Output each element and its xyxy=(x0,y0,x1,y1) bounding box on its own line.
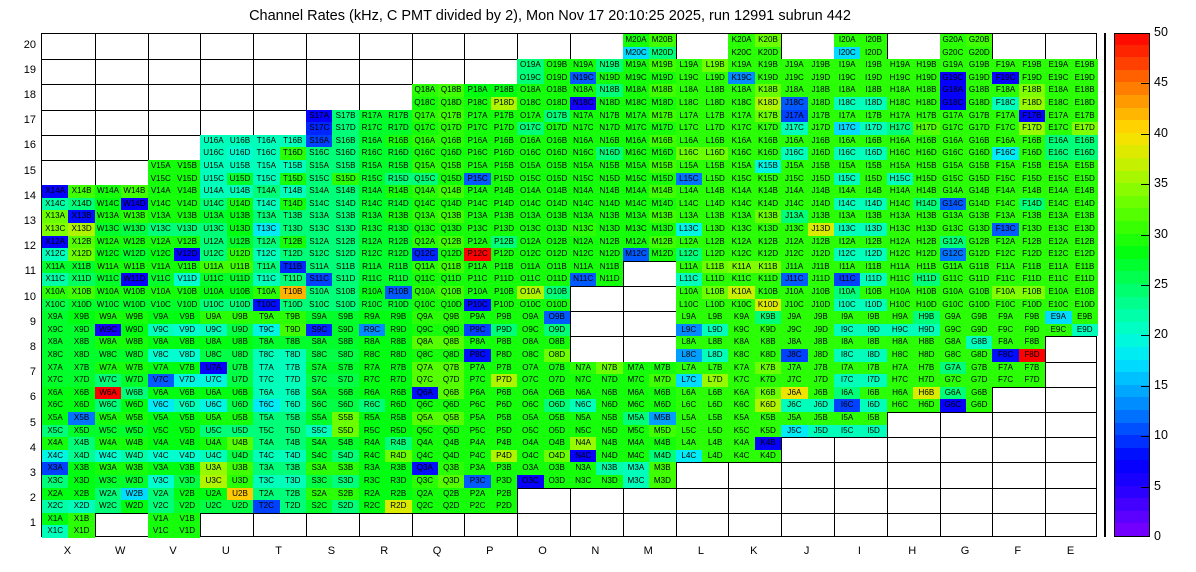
channel-h11a[interactable]: H11A xyxy=(887,261,913,274)
channel-k19c[interactable]: K19C xyxy=(728,72,754,85)
channel-t9a[interactable]: T9A xyxy=(253,311,279,324)
channel-e14a[interactable]: E14A xyxy=(1045,185,1071,198)
channel-o16b[interactable]: O16B xyxy=(544,135,570,148)
channel-q18a[interactable]: Q18A xyxy=(412,84,438,97)
channel-p5b[interactable]: P5B xyxy=(491,412,517,425)
heatmap-cell[interactable]: P18AP18BP18CP18D xyxy=(464,84,517,109)
channel-g8a[interactable]: G8A xyxy=(940,336,966,349)
channel-t13d[interactable]: T13D xyxy=(280,223,306,236)
channel-u6a[interactable]: U6A xyxy=(200,387,226,400)
channel-f7d[interactable]: F7D xyxy=(1019,374,1045,387)
heatmap-cell[interactable]: I19AI19BI19CI19D xyxy=(834,59,887,84)
channel-f15d[interactable]: F15D xyxy=(1019,173,1045,186)
channel-w9a[interactable]: W9A xyxy=(95,311,121,324)
channel-s15d[interactable]: S15D xyxy=(332,173,358,186)
channel-g17a[interactable]: G17A xyxy=(940,110,966,123)
channel-s13c[interactable]: S13C xyxy=(306,223,332,236)
channel-g16c[interactable]: G16C xyxy=(940,147,966,160)
channel-x6d[interactable]: X6D xyxy=(68,399,94,412)
channel-f7c[interactable]: F7C xyxy=(992,374,1018,387)
channel-r2b[interactable]: R2B xyxy=(385,488,411,501)
channel-j15a[interactable]: J15A xyxy=(781,160,807,173)
heatmap-cell[interactable]: L10AL10BL10CL10D xyxy=(676,286,729,311)
channel-n4c[interactable]: N4C xyxy=(570,450,596,463)
channel-i19d[interactable]: I19D xyxy=(860,72,886,85)
channel-w10a[interactable]: W10A xyxy=(95,286,121,299)
channel-n14a[interactable]: N14A xyxy=(570,185,596,198)
channel-e16d[interactable]: E16D xyxy=(1072,147,1098,160)
channel-m5b[interactable]: M5B xyxy=(649,412,675,425)
channel-o16a[interactable]: O16A xyxy=(517,135,543,148)
channel-p10d[interactable]: P10D xyxy=(491,299,517,312)
channel-g10c[interactable]: G10C xyxy=(940,299,966,312)
channel-l13a[interactable]: L13A xyxy=(676,210,702,223)
channel-h13c[interactable]: H13C xyxy=(887,223,913,236)
channel-o14c[interactable]: O14C xyxy=(517,198,543,211)
channel-l18d[interactable]: L18D xyxy=(702,97,728,110)
channel-u14a[interactable]: U14A xyxy=(200,185,226,198)
channel-x14d[interactable]: X14D xyxy=(68,198,94,211)
channel-r2c[interactable]: R2C xyxy=(359,500,385,513)
channel-x12b[interactable]: X12B xyxy=(68,236,94,249)
channel-l8b[interactable]: L8B xyxy=(702,336,728,349)
channel-k18b[interactable]: K18B xyxy=(755,84,781,97)
channel-o6a[interactable]: O6A xyxy=(517,387,543,400)
channel-w13d[interactable]: W13D xyxy=(121,223,147,236)
channel-e16a[interactable]: E16A xyxy=(1045,135,1071,148)
channel-i11b[interactable]: I11B xyxy=(860,261,886,274)
heatmap-cell[interactable]: U6AU6BU6CU6D xyxy=(200,387,253,412)
channel-r5d[interactable]: R5D xyxy=(385,425,411,438)
channel-f13c[interactable]: F13C xyxy=(992,223,1018,236)
channel-p11c[interactable]: P11C xyxy=(464,273,490,286)
channel-v6a[interactable]: V6A xyxy=(148,387,174,400)
channel-v1b[interactable]: V1B xyxy=(174,513,200,526)
heatmap-cell[interactable]: P5AP5BP5CP5D xyxy=(464,412,517,437)
channel-r11c[interactable]: R11C xyxy=(359,273,385,286)
heatmap-cell[interactable]: H10AH10BH10CH10D xyxy=(887,286,940,311)
channel-p5a[interactable]: P5A xyxy=(464,412,490,425)
heatmap-cell[interactable]: U4AU4BU4CU4D xyxy=(200,437,253,462)
channel-f17a[interactable]: F17A xyxy=(992,110,1018,123)
channel-g7c[interactable]: G7C xyxy=(940,374,966,387)
channel-p13a[interactable]: P13A xyxy=(464,210,490,223)
channel-x2c[interactable]: X2C xyxy=(42,500,68,513)
channel-x10b[interactable]: X10B xyxy=(68,286,94,299)
heatmap-cell[interactable]: Q12AQ12BQ12CQ12D xyxy=(412,236,465,261)
channel-r15b[interactable]: R15B xyxy=(385,160,411,173)
channel-r14b[interactable]: R14B xyxy=(385,185,411,198)
channel-m20b[interactable]: M20B xyxy=(649,34,675,47)
channel-e11a[interactable]: E11A xyxy=(1045,261,1071,274)
channel-v8b[interactable]: V8B xyxy=(174,336,200,349)
channel-j17a[interactable]: J17A xyxy=(781,110,807,123)
channel-k8d[interactable]: K8D xyxy=(755,349,781,362)
channel-i14c[interactable]: I14C xyxy=(834,198,860,211)
channel-w10d[interactable]: W10D xyxy=(121,299,147,312)
channel-p12b[interactable]: P12B xyxy=(491,236,517,249)
channel-v14c[interactable]: V14C xyxy=(148,198,174,211)
channel-n15d[interactable]: N15D xyxy=(596,173,622,186)
heatmap-cell[interactable]: L7AL7BL7CL7D xyxy=(676,362,729,387)
heatmap-cell[interactable]: M20AM20BM20CM20D xyxy=(623,34,676,59)
channel-k16c[interactable]: K16C xyxy=(728,147,754,160)
channel-v1a[interactable]: V1A xyxy=(148,513,174,526)
channel-r15a[interactable]: R15A xyxy=(359,160,385,173)
channel-w13a[interactable]: W13A xyxy=(95,210,121,223)
channel-i7c[interactable]: I7C xyxy=(834,374,860,387)
channel-s7b[interactable]: S7B xyxy=(332,362,358,375)
channel-j8a[interactable]: J8A xyxy=(781,336,807,349)
channel-o13b[interactable]: O13B xyxy=(544,210,570,223)
channel-k20c[interactable]: K20C xyxy=(728,47,754,60)
channel-h9a[interactable]: H9A xyxy=(887,311,913,324)
channel-s9d[interactable]: S9D xyxy=(332,324,358,337)
channel-k17a[interactable]: K17A xyxy=(728,110,754,123)
channel-u13a[interactable]: U13A xyxy=(200,210,226,223)
channel-h15d[interactable]: H15D xyxy=(913,173,939,186)
heatmap-cell[interactable]: W9AW9BW9CW9D xyxy=(95,311,148,336)
channel-g10a[interactable]: G10A xyxy=(940,286,966,299)
channel-s15c[interactable]: S15C xyxy=(306,173,332,186)
heatmap-cell[interactable]: U7AU7BU7CU7D xyxy=(200,362,253,387)
channel-r13b[interactable]: R13B xyxy=(385,210,411,223)
channel-s3d[interactable]: S3D xyxy=(332,475,358,488)
channel-j5d[interactable]: J5D xyxy=(808,425,834,438)
channel-t3a[interactable]: T3A xyxy=(253,462,279,475)
heatmap-cell[interactable]: O3AO3BO3CO3D xyxy=(517,462,570,487)
channel-f7a[interactable]: F7A xyxy=(992,362,1018,375)
channel-j7c[interactable]: J7C xyxy=(781,374,807,387)
heatmap-cell[interactable]: R2AR2BR2CR2D xyxy=(359,488,412,513)
channel-r5a[interactable]: R5A xyxy=(359,412,385,425)
channel-x8c[interactable]: X8C xyxy=(42,349,68,362)
channel-x1d[interactable]: X1D xyxy=(68,525,94,538)
channel-w8a[interactable]: W8A xyxy=(95,336,121,349)
heatmap-cell[interactable]: G20AG20BG20CG20D xyxy=(940,34,993,59)
channel-l17a[interactable]: L17A xyxy=(676,110,702,123)
channel-q12a[interactable]: Q12A xyxy=(412,236,438,249)
channel-p17d[interactable]: P17D xyxy=(491,122,517,135)
channel-q11c[interactable]: Q11C xyxy=(412,273,438,286)
channel-s11b[interactable]: S11B xyxy=(332,261,358,274)
heatmap-cell[interactable]: E15AE15BE15CE15D xyxy=(1045,160,1098,185)
heatmap-cell[interactable]: V14AV14BV14CV14D xyxy=(148,185,201,210)
channel-m12b[interactable]: M12B xyxy=(649,236,675,249)
channel-s8c[interactable]: S8C xyxy=(306,349,332,362)
channel-x11c[interactable]: X11C xyxy=(42,273,68,286)
channel-h10c[interactable]: H10C xyxy=(887,299,913,312)
heatmap-cell[interactable]: Q15AQ15BQ15CQ15D xyxy=(412,160,465,185)
heatmap-cell[interactable]: X10AX10BX10CX10D xyxy=(42,286,95,311)
channel-e10c[interactable]: E10C xyxy=(1045,299,1071,312)
heatmap-cell[interactable]: W14AW14BW14CW14D xyxy=(95,185,148,210)
channel-w14b[interactable]: W14B xyxy=(121,185,147,198)
heatmap-cell[interactable]: M17AM17BM17CM17D xyxy=(623,110,676,135)
channel-r12d[interactable]: R12D xyxy=(385,248,411,261)
channel-n11b[interactable]: N11B xyxy=(596,261,622,274)
channel-i15a[interactable]: I15A xyxy=(834,160,860,173)
channel-m16b[interactable]: M16B xyxy=(649,135,675,148)
heatmap-cell[interactable]: U9AU9BU9CU9D xyxy=(200,311,253,336)
channel-u7b[interactable]: U7B xyxy=(227,362,253,375)
channel-n17a[interactable]: N17A xyxy=(570,110,596,123)
channel-m3a[interactable]: M3A xyxy=(623,462,649,475)
channel-h7a[interactable]: H7A xyxy=(887,362,913,375)
channel-k10b[interactable]: K10B xyxy=(755,286,781,299)
channel-r9a[interactable]: R9A xyxy=(359,311,385,324)
heatmap-cell[interactable]: P4AP4BP4CP4D xyxy=(464,437,517,462)
channel-m17b[interactable]: M17B xyxy=(649,110,675,123)
channel-e12a[interactable]: E12A xyxy=(1045,236,1071,249)
channel-j13d[interactable]: J13D xyxy=(808,223,834,236)
channel-s13d[interactable]: S13D xyxy=(332,223,358,236)
channel-l5c[interactable]: L5C xyxy=(676,425,702,438)
heatmap-cell[interactable]: T3AT3BT3CT3D xyxy=(253,462,306,487)
channel-x3c[interactable]: X3C xyxy=(42,475,68,488)
channel-l6b[interactable]: L6B xyxy=(702,387,728,400)
channel-f9d[interactable]: F9D xyxy=(1019,324,1045,337)
heatmap-cell[interactable]: H6AH6BH6CH6D xyxy=(887,387,940,412)
heatmap-cell[interactable]: R13AR13BR13CR13D xyxy=(359,210,412,235)
channel-t11b[interactable]: T11B xyxy=(280,261,306,274)
heatmap-cell[interactable]: N5AN5BN5CN5D xyxy=(570,412,623,437)
heatmap-cell[interactable]: J17AJ17BJ17CJ17D xyxy=(781,110,834,135)
channel-u7a[interactable]: U7A xyxy=(200,362,226,375)
channel-q4a[interactable]: Q4A xyxy=(412,437,438,450)
heatmap-cell[interactable]: X11AX11BX11CX11D xyxy=(42,261,95,286)
heatmap-cell[interactable]: U3AU3BU3CU3D xyxy=(200,462,253,487)
heatmap-cell[interactable]: J7AJ7BJ7CJ7D xyxy=(781,362,834,387)
channel-i15d[interactable]: I15D xyxy=(860,173,886,186)
heatmap-cell[interactable]: Q14AQ14BQ14CQ14D xyxy=(412,185,465,210)
channel-x6c[interactable]: X6C xyxy=(42,399,68,412)
channel-p11d[interactable]: P11D xyxy=(491,273,517,286)
channel-v12d[interactable]: V12D xyxy=(174,248,200,261)
channel-n7c[interactable]: N7C xyxy=(570,374,596,387)
channel-x6b[interactable]: X6B xyxy=(68,387,94,400)
channel-v13a[interactable]: V13A xyxy=(148,210,174,223)
channel-i14a[interactable]: I14A xyxy=(834,185,860,198)
channel-m3d[interactable]: M3D xyxy=(649,475,675,488)
channel-l14d[interactable]: L14D xyxy=(702,198,728,211)
channel-x2a[interactable]: X2A xyxy=(42,488,68,501)
channel-o18a[interactable]: O18A xyxy=(517,84,543,97)
channel-e19d[interactable]: E19D xyxy=(1072,72,1098,85)
channel-i17c[interactable]: I17C xyxy=(834,122,860,135)
heatmap-cell[interactable]: E14AE14BE14CE14D xyxy=(1045,185,1098,210)
heatmap-cell[interactable]: N3AN3BN3CN3D xyxy=(570,462,623,487)
channel-h8b[interactable]: H8B xyxy=(913,336,939,349)
channel-p3a[interactable]: P3A xyxy=(464,462,490,475)
heatmap-cell[interactable]: U5AU5BU5CU5D xyxy=(200,412,253,437)
channel-w11b[interactable]: W11B xyxy=(121,261,147,274)
channel-v5a[interactable]: V5A xyxy=(148,412,174,425)
channel-h11d[interactable]: H11D xyxy=(913,273,939,286)
channel-t2d[interactable]: T2D xyxy=(280,500,306,513)
channel-n3d[interactable]: N3D xyxy=(596,475,622,488)
channel-u12c[interactable]: U12C xyxy=(200,248,226,261)
channel-t3b[interactable]: T3B xyxy=(280,462,306,475)
heatmap-cell[interactable]: M14AM14BM14CM14D xyxy=(623,185,676,210)
channel-t7c[interactable]: T7C xyxy=(253,374,279,387)
channel-g18b[interactable]: G18B xyxy=(966,84,992,97)
channel-u15c[interactable]: U15C xyxy=(200,173,226,186)
heatmap-cell[interactable]: X6AX6BX6CX6D xyxy=(42,387,95,412)
channel-q6d[interactable]: Q6D xyxy=(438,399,464,412)
channel-g19c[interactable]: G19C xyxy=(940,72,966,85)
channel-j8d[interactable]: J8D xyxy=(808,349,834,362)
heatmap-cell[interactable]: U14AU14BU14CU14D xyxy=(200,185,253,210)
channel-t10d[interactable]: T10D xyxy=(280,299,306,312)
channel-m18b[interactable]: M18B xyxy=(649,84,675,97)
channel-e17d[interactable]: E17D xyxy=(1072,122,1098,135)
channel-t10a[interactable]: T10A xyxy=(253,286,279,299)
channel-e19a[interactable]: E19A xyxy=(1045,59,1071,72)
channel-s7c[interactable]: S7C xyxy=(306,374,332,387)
channel-m13c[interactable]: M13C xyxy=(623,223,649,236)
channel-i9d[interactable]: I9D xyxy=(860,324,886,337)
channel-m19a[interactable]: M19A xyxy=(623,59,649,72)
heatmap-cell[interactable]: S6AS6BS6CS6D xyxy=(306,387,359,412)
channel-f18d[interactable]: F18D xyxy=(1019,97,1045,110)
channel-h6c[interactable]: H6C xyxy=(887,399,913,412)
channel-h11c[interactable]: H11C xyxy=(887,273,913,286)
heatmap-cell[interactable]: S7AS7BS7CS7D xyxy=(306,362,359,387)
channel-e12d[interactable]: E12D xyxy=(1072,248,1098,261)
channel-o15b[interactable]: O15B xyxy=(544,160,570,173)
channel-e14c[interactable]: E14C xyxy=(1045,198,1071,211)
channel-u5b[interactable]: U5B xyxy=(227,412,253,425)
channel-k16d[interactable]: K16D xyxy=(755,147,781,160)
heatmap-cell[interactable]: Q18AQ18BQ18CQ18D xyxy=(412,84,465,109)
channel-q11b[interactable]: Q11B xyxy=(438,261,464,274)
channel-m4b[interactable]: M4B xyxy=(649,437,675,450)
channel-q15d[interactable]: Q15D xyxy=(438,173,464,186)
heatmap-cell[interactable]: P8AP8BP8CP8D xyxy=(464,336,517,361)
heatmap-cell[interactable]: R6AR6BR6CR6D xyxy=(359,387,412,412)
channel-s10d[interactable]: S10D xyxy=(332,299,358,312)
channel-q2a[interactable]: Q2A xyxy=(412,488,438,501)
channel-e17a[interactable]: E17A xyxy=(1045,110,1071,123)
channel-r13d[interactable]: R13D xyxy=(385,223,411,236)
channel-k14a[interactable]: K14A xyxy=(728,185,754,198)
channel-t13c[interactable]: T13C xyxy=(253,223,279,236)
channel-h7b[interactable]: H7B xyxy=(913,362,939,375)
heatmap-cell[interactable]: K15AK15BK15CK15D xyxy=(728,160,781,185)
heatmap-cell[interactable]: K8AK8BK8CK8D xyxy=(728,336,781,361)
heatmap-cell[interactable]: U12AU12BU12CU12D xyxy=(200,236,253,261)
channel-v5c[interactable]: V5C xyxy=(148,425,174,438)
channel-j15b[interactable]: J15B xyxy=(808,160,834,173)
channel-n5a[interactable]: N5A xyxy=(570,412,596,425)
channel-r15c[interactable]: R15C xyxy=(359,173,385,186)
channel-n18b[interactable]: N18B xyxy=(596,84,622,97)
channel-j17b[interactable]: J17B xyxy=(808,110,834,123)
heatmap-cell[interactable]: L9AL9BL9CL9D xyxy=(676,311,729,336)
channel-v10b[interactable]: V10B xyxy=(174,286,200,299)
heatmap-cell[interactable]: T5AT5BT5CT5D xyxy=(253,412,306,437)
channel-t8c[interactable]: T8C xyxy=(253,349,279,362)
channel-i20c[interactable]: I20C xyxy=(834,47,860,60)
channel-w2b[interactable]: W2B xyxy=(121,488,147,501)
channel-o10a[interactable]: O10A xyxy=(517,286,543,299)
channel-o16c[interactable]: O16C xyxy=(517,147,543,160)
channel-f10b[interactable]: F10B xyxy=(1019,286,1045,299)
channel-s6a[interactable]: S6A xyxy=(306,387,332,400)
channel-v6d[interactable]: V6D xyxy=(174,399,200,412)
channel-h16a[interactable]: H16A xyxy=(887,135,913,148)
channel-l8d[interactable]: L8D xyxy=(702,349,728,362)
channel-l16c[interactable]: L16C xyxy=(676,147,702,160)
channel-g10b[interactable]: G10B xyxy=(966,286,992,299)
heatmap-cell[interactable]: O7AO7BO7CO7D xyxy=(517,362,570,387)
channel-l12c[interactable]: L12C xyxy=(676,248,702,261)
channel-r17c[interactable]: R17C xyxy=(359,122,385,135)
heatmap-cell[interactable]: I17AI17BI17CI17D xyxy=(834,110,887,135)
channel-w4a[interactable]: W4A xyxy=(95,437,121,450)
heatmap-cell[interactable]: L12AL12BL12CL12D xyxy=(676,236,729,261)
channel-n18d[interactable]: N18D xyxy=(596,97,622,110)
channel-v8d[interactable]: V8D xyxy=(174,349,200,362)
channel-e10d[interactable]: E10D xyxy=(1072,299,1098,312)
channel-q15c[interactable]: Q15C xyxy=(412,173,438,186)
heatmap-cell[interactable]: R11AR11BR11CR11D xyxy=(359,261,412,286)
channel-p18d[interactable]: P18D xyxy=(491,97,517,110)
heatmap-cell[interactable]: R4AR4BR4CR4D xyxy=(359,437,412,462)
channel-p16c[interactable]: P16C xyxy=(464,147,490,160)
channel-e11c[interactable]: E11C xyxy=(1045,273,1071,286)
heatmap-cell[interactable]: Q8AQ8BQ8CQ8D xyxy=(412,336,465,361)
channel-m15b[interactable]: M15B xyxy=(649,160,675,173)
heatmap-cell[interactable]: O11AO11BO11CO11D xyxy=(517,261,570,286)
heatmap-cell[interactable]: P3AP3BP3CP3D xyxy=(464,462,517,487)
channel-j8c[interactable]: J8C xyxy=(781,349,807,362)
channel-k7c[interactable]: K7C xyxy=(728,374,754,387)
channel-f8a[interactable]: F8A xyxy=(992,336,1018,349)
channel-h16b[interactable]: H16B xyxy=(913,135,939,148)
channel-q9c[interactable]: Q9C xyxy=(412,324,438,337)
channel-g8d[interactable]: G8D xyxy=(966,349,992,362)
channel-j16c[interactable]: J16C xyxy=(781,147,807,160)
channel-e15a[interactable]: E15A xyxy=(1045,160,1071,173)
heatmap-cell[interactable]: Q11AQ11BQ11CQ11D xyxy=(412,261,465,286)
channel-w7d[interactable]: W7D xyxy=(121,374,147,387)
channel-r2d[interactable]: R2D xyxy=(385,500,411,513)
channel-k9a[interactable]: K9A xyxy=(728,311,754,324)
channel-w9c[interactable]: W9C xyxy=(95,324,121,337)
channel-g7a[interactable]: G7A xyxy=(940,362,966,375)
channel-n18c[interactable]: N18C xyxy=(570,97,596,110)
channel-w3a[interactable]: W3A xyxy=(95,462,121,475)
channel-k11d[interactable]: K11D xyxy=(755,273,781,286)
channel-j16d[interactable]: J16D xyxy=(808,147,834,160)
channel-k12d[interactable]: K12D xyxy=(755,248,781,261)
channel-x5a[interactable]: X5A xyxy=(42,412,68,425)
channel-h8d[interactable]: H8D xyxy=(913,349,939,362)
channel-e15d[interactable]: E15D xyxy=(1072,173,1098,186)
heatmap-cell[interactable]: M6AM6BM6CM6D xyxy=(623,387,676,412)
channel-l16a[interactable]: L16A xyxy=(676,135,702,148)
channel-t15c[interactable]: T15C xyxy=(253,173,279,186)
channel-o14b[interactable]: O14B xyxy=(544,185,570,198)
heatmap-cell[interactable]: F8AF8BF8CF8D xyxy=(992,336,1045,361)
channel-o18c[interactable]: O18C xyxy=(517,97,543,110)
channel-h15c[interactable]: H15C xyxy=(887,173,913,186)
channel-h6d[interactable]: H6D xyxy=(913,399,939,412)
heatmap-cell[interactable]: F13AF13BF13CF13D xyxy=(992,210,1045,235)
channel-o8b[interactable]: O8B xyxy=(544,336,570,349)
